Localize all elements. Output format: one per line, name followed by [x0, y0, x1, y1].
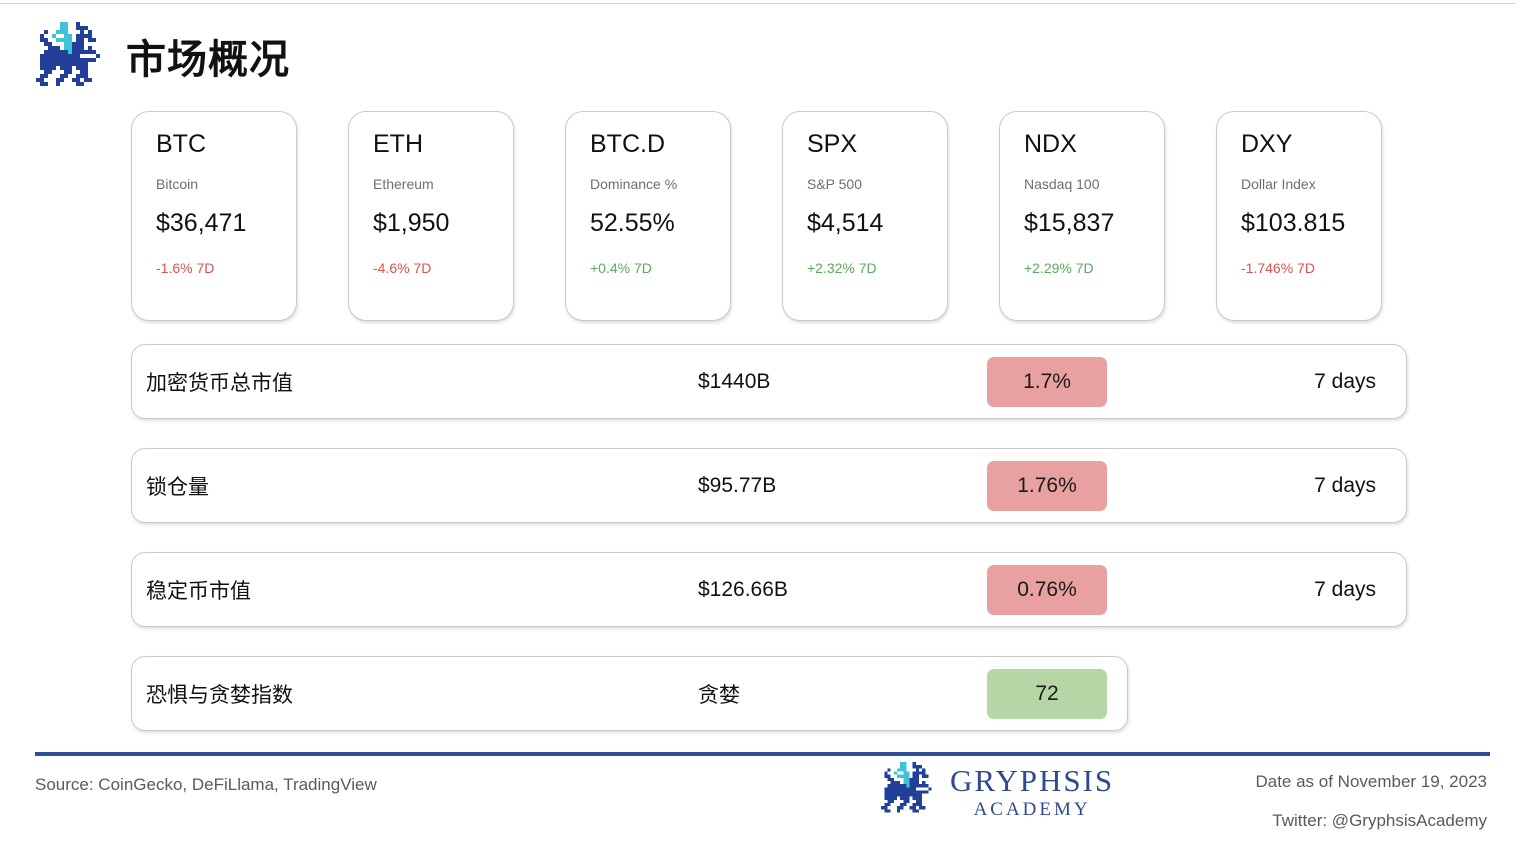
row-label: 恐惧与贪婪指数 [146, 679, 293, 709]
metric-symbol: BTC [156, 132, 296, 157]
metric-change: -1.6% 7D [156, 261, 296, 275]
brand-name: GRYPHSIS [950, 765, 1114, 796]
gryphsis-dragon-icon [878, 762, 938, 822]
footer-brand: GRYPHSIS ACADEMY [878, 762, 1114, 822]
metric-name: Nasdaq 100 [1024, 177, 1164, 191]
metric-card-eth[interactable]: ETH Ethereum $1,950 -4.6% 7D [348, 111, 514, 321]
footer-twitter-handle: Twitter: @GryphsisAcademy [1255, 811, 1487, 831]
status-badge: 72 [987, 669, 1107, 719]
brand-subtitle: ACADEMY [974, 800, 1091, 819]
row-period: 7 days [1314, 474, 1376, 498]
table-row[interactable]: 加密货币总市值 $1440B 1.7% 7 days [131, 344, 1407, 419]
footer-date: Date as of November 19, 2023 [1255, 772, 1487, 792]
metric-name: S&P 500 [807, 177, 947, 191]
row-value: $126.66B [698, 578, 788, 602]
metric-symbol: NDX [1024, 132, 1164, 157]
row-label: 稳定币市值 [146, 575, 251, 605]
metric-card-ndx[interactable]: NDX Nasdaq 100 $15,837 +2.29% 7D [999, 111, 1165, 321]
footer-meta: Date as of November 19, 2023 Twitter: @G… [1255, 772, 1487, 831]
row-label: 加密货币总市值 [146, 367, 293, 397]
metric-value: $15,837 [1024, 211, 1164, 236]
row-value: $1440B [698, 370, 770, 394]
metric-change: -4.6% 7D [373, 261, 513, 275]
page-header: 市场概况 [32, 16, 290, 104]
metric-value: 52.55% [590, 211, 730, 236]
metric-symbol: SPX [807, 132, 947, 157]
metric-symbol: DXY [1241, 132, 1381, 157]
footer-wordmark: GRYPHSIS ACADEMY [950, 765, 1114, 819]
status-badge: 1.76% [987, 461, 1107, 511]
gryphsis-dragon-icon [32, 22, 108, 98]
metric-value: $4,514 [807, 211, 947, 236]
metric-cards-row: BTC Bitcoin $36,471 -1.6% 7D ETH Ethereu… [131, 111, 1382, 321]
table-row[interactable]: 恐惧与贪婪指数 贪婪 72 [131, 656, 1128, 731]
row-label: 锁仓量 [146, 471, 209, 501]
row-value: 贪婪 [698, 679, 740, 709]
metric-change: +2.32% 7D [807, 261, 947, 275]
data-rows: 加密货币总市值 $1440B 1.7% 7 days 锁仓量 $95.77B 1… [131, 344, 1407, 760]
row-value: $95.77B [698, 474, 776, 498]
status-badge: 1.7% [987, 357, 1107, 407]
table-row[interactable]: 锁仓量 $95.77B 1.76% 7 days [131, 448, 1407, 523]
metric-card-btc[interactable]: BTC Bitcoin $36,471 -1.6% 7D [131, 111, 297, 321]
metric-change: +2.29% 7D [1024, 261, 1164, 275]
page-title: 市场概况 [126, 40, 290, 80]
metric-card-spx[interactable]: SPX S&P 500 $4,514 +2.32% 7D [782, 111, 948, 321]
metric-change: +0.4% 7D [590, 261, 730, 275]
metric-name: Bitcoin [156, 177, 296, 191]
metric-name: Dollar Index [1241, 177, 1381, 191]
footer-divider [35, 752, 1490, 756]
metric-value: $103.815 [1241, 211, 1381, 236]
metric-value: $36,471 [156, 211, 296, 236]
metric-value: $1,950 [373, 211, 513, 236]
metric-name: Ethereum [373, 177, 513, 191]
metric-card-btc-dominance[interactable]: BTC.D Dominance % 52.55% +0.4% 7D [565, 111, 731, 321]
row-period: 7 days [1314, 370, 1376, 394]
status-badge: 0.76% [987, 565, 1107, 615]
metric-symbol: ETH [373, 132, 513, 157]
metric-symbol: BTC.D [590, 132, 730, 157]
metric-card-dxy[interactable]: DXY Dollar Index $103.815 -1.746% 7D [1216, 111, 1382, 321]
metric-name: Dominance % [590, 177, 730, 191]
top-divider [0, 3, 1516, 4]
row-period: 7 days [1314, 578, 1376, 602]
market-overview-page: 市场概况 BTC Bitcoin $36,471 -1.6% 7D ETH Et… [0, 0, 1516, 861]
metric-change: -1.746% 7D [1241, 261, 1381, 275]
table-row[interactable]: 稳定币市值 $126.66B 0.76% 7 days [131, 552, 1407, 627]
footer-source: Source: CoinGecko, DeFiLlama, TradingVie… [35, 775, 377, 795]
